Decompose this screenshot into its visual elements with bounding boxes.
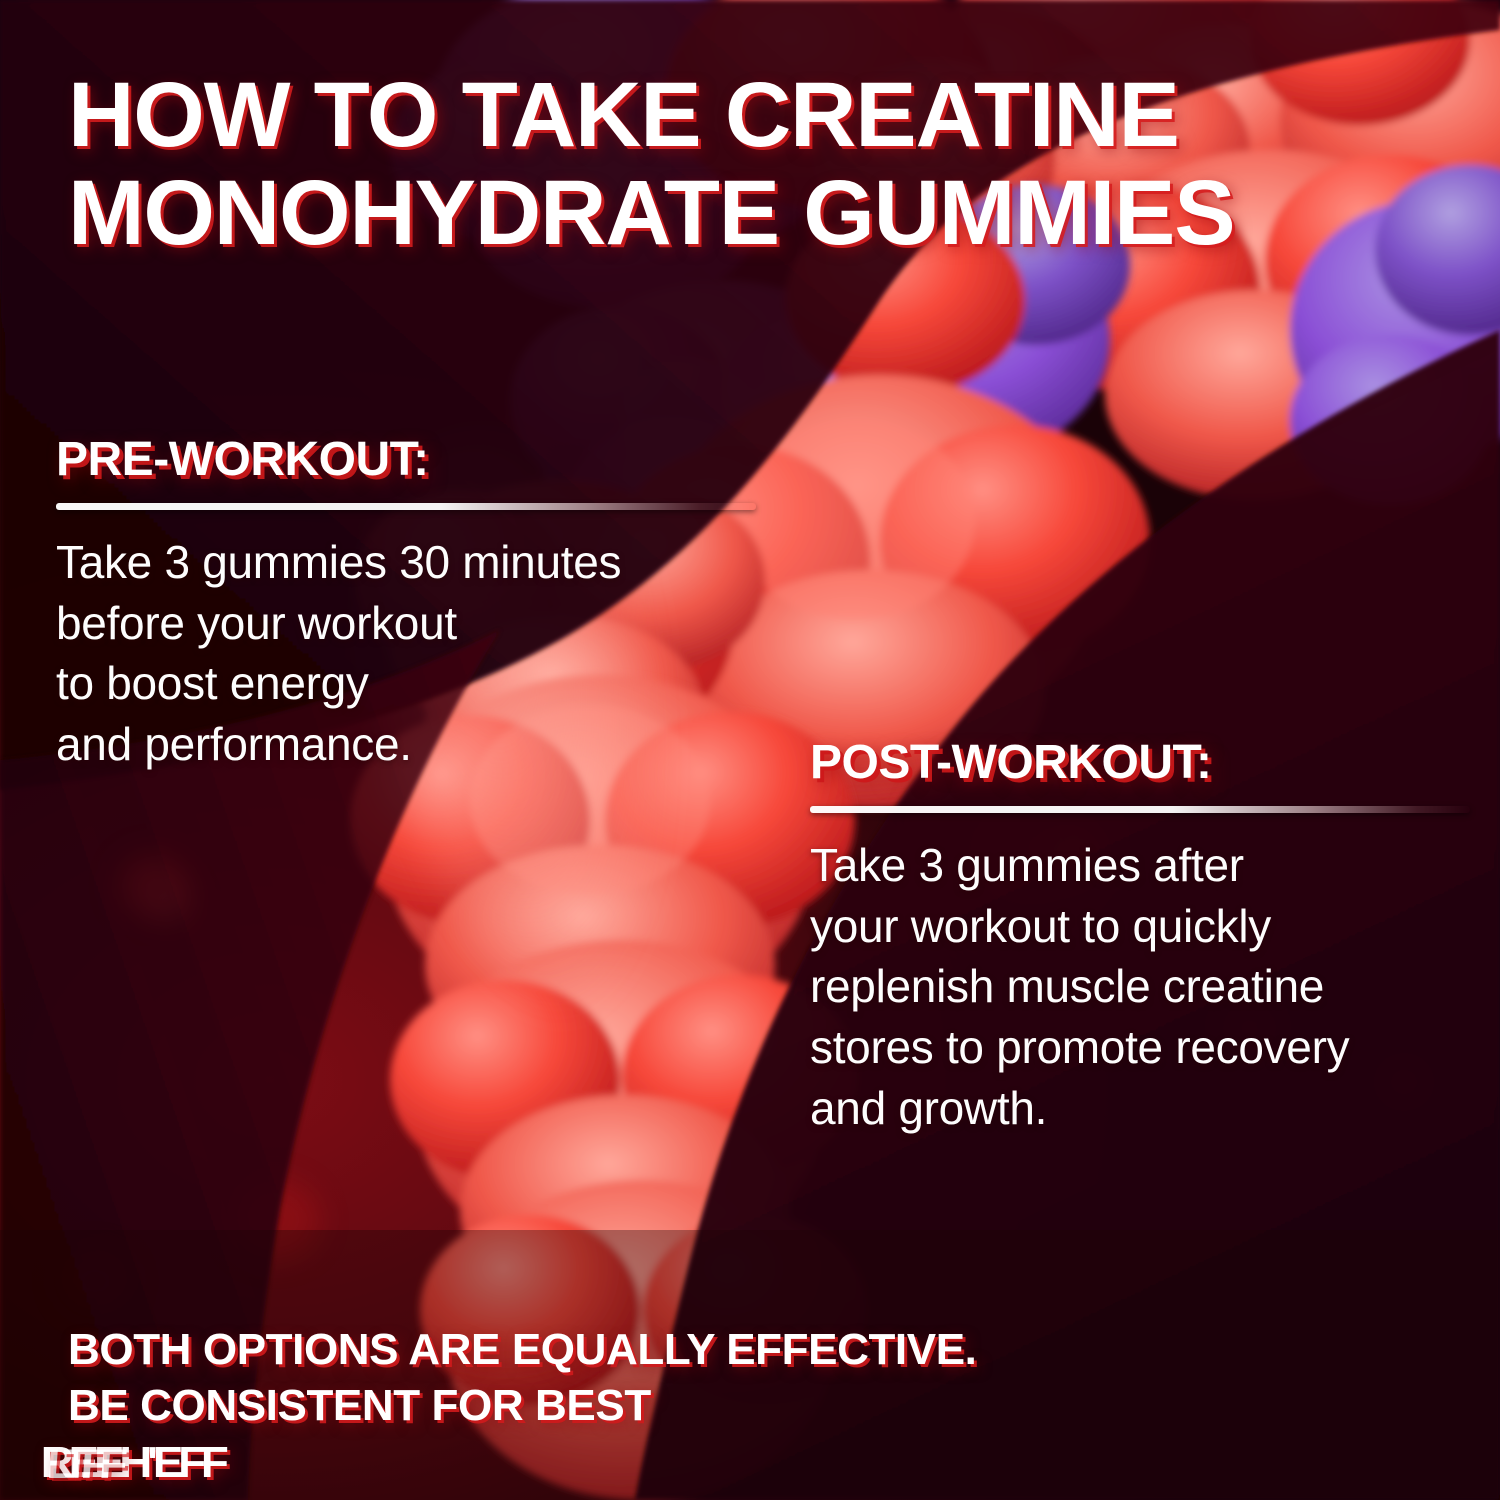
footer-line-2-prefix: BE CONSISTENT FOR BEST — [68, 1378, 1428, 1434]
pre-body-line-2: before your workout — [56, 593, 756, 654]
pre-workout-heading: PRE-WORKOUT: — [56, 432, 756, 487]
post-workout-heading: POST-WORKOUT: — [810, 735, 1470, 790]
pre-workout-body: Take 3 gummies 30 minutes before your wo… — [56, 532, 756, 775]
post-body-line-4: stores to promote recovery — [810, 1017, 1470, 1078]
poster-canvas: HOW TO TAKE CREATINE MONOHYDRATE GUMMIES… — [0, 0, 1500, 1500]
post-workout-body: Take 3 gummies after your workout to qui… — [810, 835, 1470, 1139]
post-body-line-3: replenish muscle creatine — [810, 956, 1470, 1017]
pre-body-line-3: to boost energy — [56, 653, 756, 714]
post-workout-divider — [810, 806, 1470, 813]
post-workout-panel: POST-WORKOUT: Take 3 gummies after your … — [810, 735, 1470, 1139]
pre-workout-panel: PRE-WORKOUT: Take 3 gummies 30 minutes b… — [56, 432, 756, 775]
title-line-2: MONOHYDRATE GUMMIES — [68, 164, 1358, 262]
title-line-1: HOW TO TAKE CREATINE — [68, 64, 1179, 166]
post-body-line-5: and growth. — [810, 1078, 1470, 1139]
footer-garbled-text: REEH'EFF — [41, 1435, 1455, 1491]
content-layer: HOW TO TAKE CREATINE MONOHYDRATE GUMMIES… — [0, 0, 1500, 1500]
footer-line-2: BE CONSISTENT FOR BEST REEH'EFF — [68, 1378, 1428, 1491]
post-body-line-1: Take 3 gummies after — [810, 835, 1470, 896]
pre-workout-divider — [56, 503, 756, 510]
footer-line-1: BOTH OPTIONS ARE EQUALLY EFFECTIVE. — [68, 1322, 1428, 1378]
post-body-line-2: your workout to quickly — [810, 896, 1470, 957]
page-title: HOW TO TAKE CREATINE MONOHYDRATE GUMMIES — [68, 66, 1358, 263]
pre-body-line-4: and performance. — [56, 714, 756, 775]
footer-callout: BOTH OPTIONS ARE EQUALLY EFFECTIVE. BE C… — [68, 1322, 1428, 1491]
pre-body-line-1: Take 3 gummies 30 minutes — [56, 532, 756, 593]
